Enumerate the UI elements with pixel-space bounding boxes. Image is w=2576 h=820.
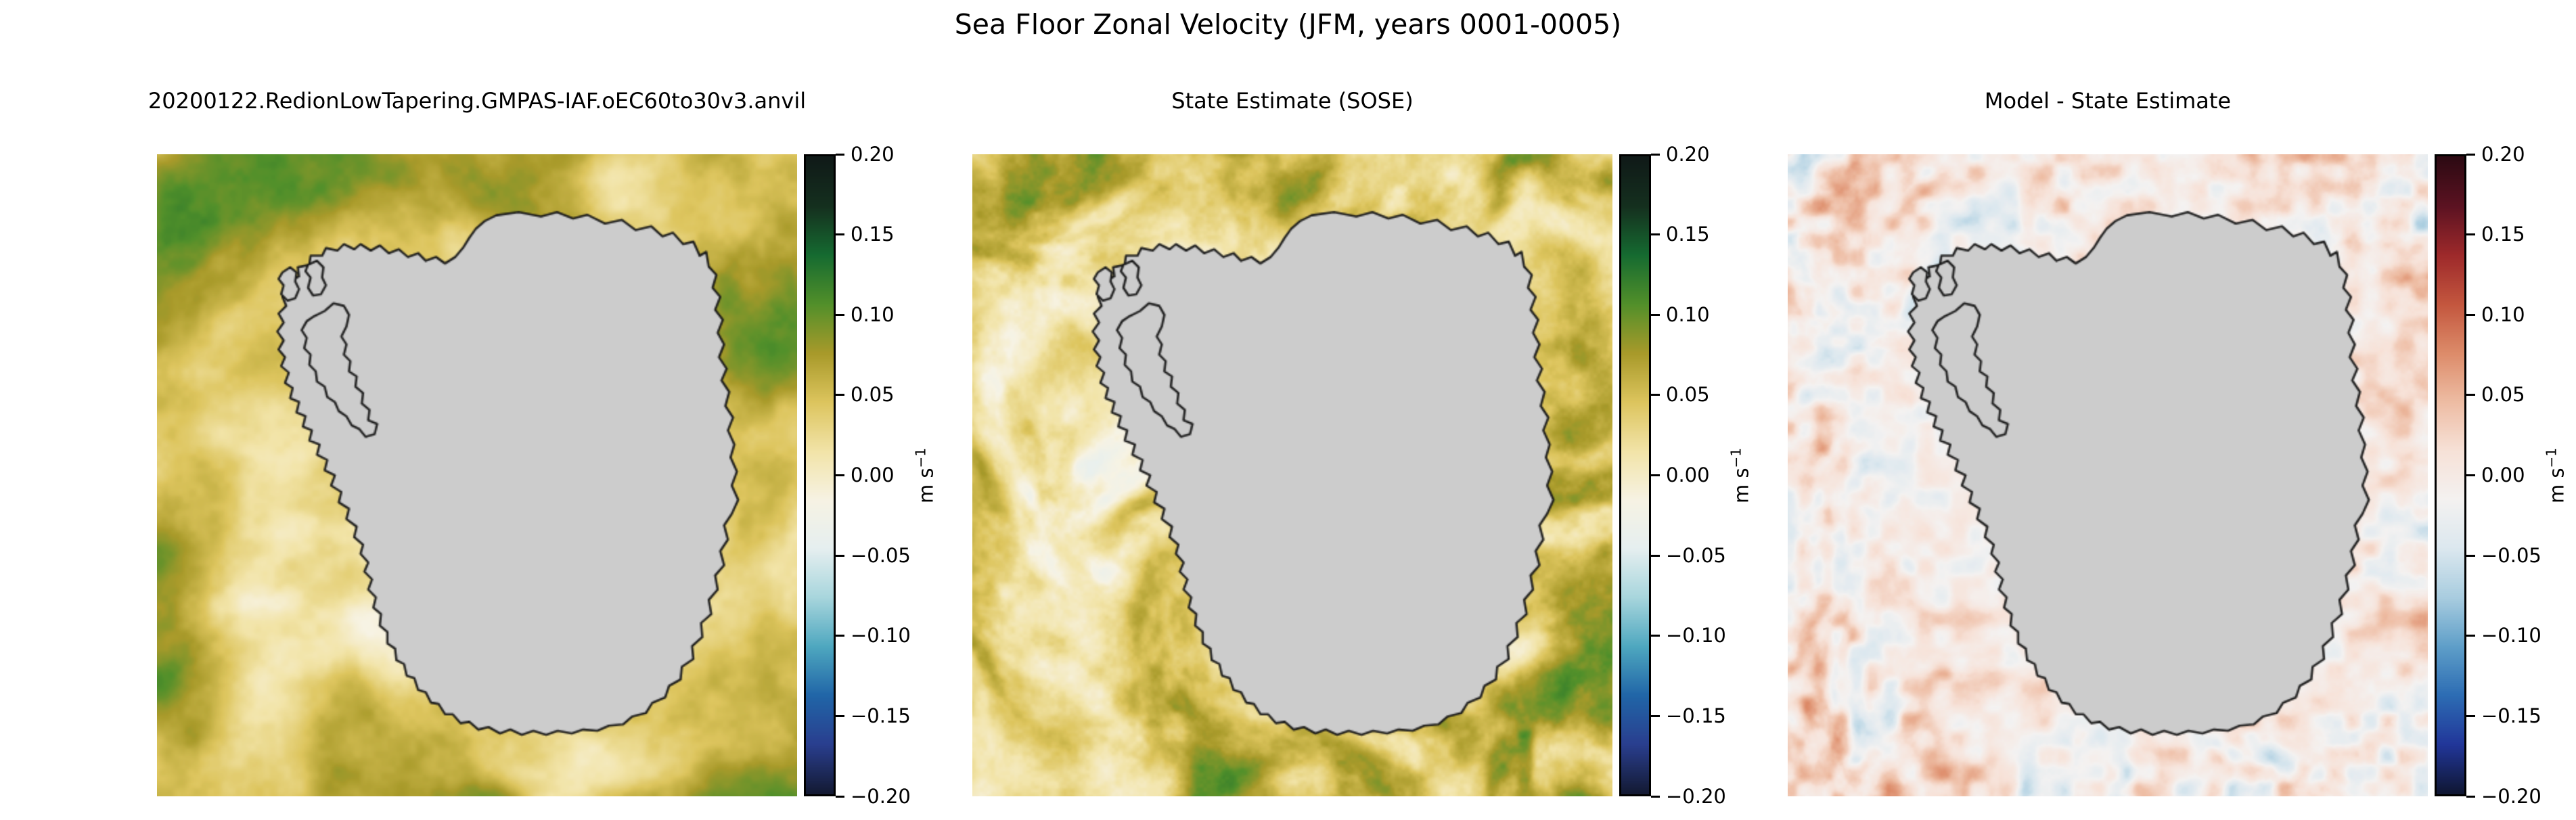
- tick-mark: [1651, 154, 1660, 156]
- tick-mark: [1651, 474, 1660, 476]
- tick-label: 0.15: [844, 225, 895, 244]
- panel-model: 20200122.RedionLowTapering.GMPAS-IAF.oEC…: [74, 87, 880, 804]
- tick-label: −0.20: [2475, 787, 2541, 806]
- tick-mark: [2466, 474, 2475, 476]
- tick-mark: [2466, 233, 2475, 235]
- tick-label: 0.00: [844, 465, 895, 485]
- tick-label: 0.00: [2475, 465, 2525, 485]
- panel-title-difference: Model - State Estimate: [1705, 87, 2510, 115]
- tick-mark: [836, 394, 844, 396]
- colorbar-difference-unit: m s−1: [2544, 447, 2569, 503]
- colorbar-state-estimate: [1619, 154, 1651, 796]
- tick-mark: [2466, 555, 2475, 557]
- figure-suptitle: Sea Floor Zonal Velocity (JFM, years 000…: [0, 5, 2576, 43]
- tick-mark: [836, 555, 844, 557]
- panel-title-state-estimate: State Estimate (SOSE): [890, 87, 1695, 115]
- map-canvas-state-estimate: [972, 154, 1612, 796]
- tick-label: 0.15: [2475, 225, 2525, 244]
- colorbar-difference: [2435, 154, 2466, 796]
- tick-label: 0.20: [2475, 145, 2525, 164]
- tick-mark: [836, 474, 844, 476]
- tick-mark: [1651, 555, 1660, 557]
- tick-label: −0.05: [2475, 546, 2541, 566]
- tick-mark: [2466, 394, 2475, 396]
- tick-label: −0.15: [2475, 706, 2541, 726]
- colorbar-difference-wrap: 0.200.150.100.050.00−0.05−0.10−0.15−0.20…: [2435, 154, 2576, 796]
- tick-mark: [836, 635, 844, 637]
- tick-mark: [1651, 796, 1660, 798]
- tick-label: 0.10: [2475, 305, 2525, 325]
- tick-label: 0.10: [844, 305, 895, 325]
- tick-mark: [836, 233, 844, 235]
- tick-label: 0.10: [1660, 305, 1710, 325]
- tick-mark: [836, 314, 844, 316]
- tick-label: 0.05: [1660, 385, 1710, 405]
- tick-mark: [1651, 715, 1660, 717]
- tick-mark: [836, 715, 844, 717]
- panel-state-estimate: State Estimate (SOSE) 0.200.150.100.050.…: [890, 87, 1695, 804]
- tick-mark: [2466, 154, 2475, 156]
- tick-mark: [1651, 394, 1660, 396]
- tick-mark: [1651, 233, 1660, 235]
- tick-label: 0.05: [2475, 385, 2525, 405]
- map-state-estimate[interactable]: [972, 154, 1612, 796]
- panel-difference: Model - State Estimate 0.200.150.100.050…: [1705, 87, 2510, 804]
- tick-mark: [1651, 635, 1660, 637]
- tick-label: 0.15: [1660, 225, 1710, 244]
- tick-label: 0.00: [1660, 465, 1710, 485]
- tick-label: 0.20: [844, 145, 895, 164]
- panel-title-model: 20200122.RedionLowTapering.GMPAS-IAF.oEC…: [74, 87, 880, 115]
- map-difference[interactable]: [1788, 154, 2428, 796]
- tick-mark: [2466, 635, 2475, 637]
- map-canvas-difference: [1788, 154, 2428, 796]
- colorbar-model: [804, 154, 836, 796]
- tick-mark: [836, 796, 844, 798]
- tick-mark: [1651, 314, 1660, 316]
- tick-label: 0.20: [1660, 145, 1710, 164]
- map-canvas-model: [157, 154, 797, 796]
- tick-mark: [2466, 796, 2475, 798]
- tick-label: −0.10: [2475, 626, 2541, 645]
- tick-label: 0.05: [844, 385, 895, 405]
- tick-mark: [2466, 314, 2475, 316]
- map-model[interactable]: [157, 154, 797, 796]
- tick-mark: [836, 154, 844, 156]
- tick-mark: [2466, 715, 2475, 717]
